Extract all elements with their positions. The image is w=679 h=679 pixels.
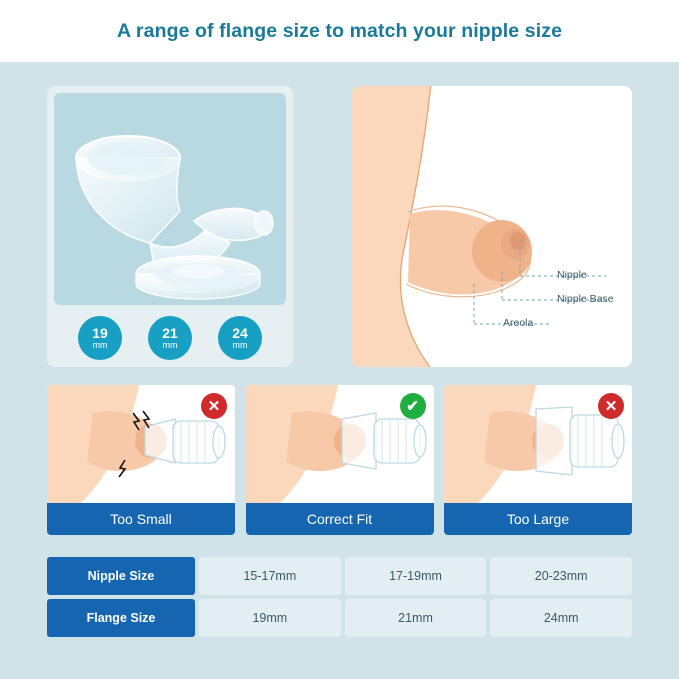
size-table: Nipple Size 15-17mm 17-19mm 20-23mm Flan… — [47, 557, 632, 641]
fit-caption-correct-fit: Correct Fit — [246, 503, 434, 535]
size-badge-21: 21 mm — [148, 316, 192, 360]
status-badge-cross: ✕ — [598, 393, 624, 419]
size-badge-number: 19 — [92, 326, 108, 340]
flange-illustration — [54, 93, 286, 305]
status-badge-check: ✔ — [400, 393, 426, 419]
fit-card-correct-fit: ✔ Correct Fit — [246, 385, 434, 535]
cell-nipple-size-3: 20-23mm — [490, 557, 632, 595]
flange-panel: 19 mm 21 mm 24 mm — [47, 86, 293, 367]
fit-caption-too-small: Too Small — [47, 503, 235, 535]
flange-product-image — [54, 93, 286, 305]
size-badge-list: 19 mm 21 mm 24 mm — [47, 308, 293, 367]
cell-nipple-size-1: 15-17mm — [199, 557, 341, 595]
size-badge-unit: mm — [93, 341, 108, 350]
header-bar: A range of flange size to match your nip… — [0, 0, 679, 62]
row-header-nipple-size: Nipple Size — [47, 557, 195, 595]
row-header-flange-size: Flange Size — [47, 599, 195, 637]
size-badge-19: 19 mm — [78, 316, 122, 360]
size-badge-unit: mm — [163, 341, 178, 350]
fit-card-too-large: ✕ Too Large — [444, 385, 632, 535]
label-nipple-base: Nipple Base — [557, 293, 614, 305]
label-areola: Areola — [503, 317, 533, 329]
fit-card-too-small: ✕ Too Small — [47, 385, 235, 535]
status-badge-cross: ✕ — [201, 393, 227, 419]
size-badge-number: 21 — [162, 326, 178, 340]
table-row-flange-size: Flange Size 19mm 21mm 24mm — [47, 599, 632, 637]
cell-flange-size-2: 21mm — [345, 599, 487, 637]
breast-anatomy-diagram — [352, 86, 632, 367]
cell-flange-size-3: 24mm — [490, 599, 632, 637]
cell-nipple-size-2: 17-19mm — [345, 557, 487, 595]
size-badge-unit: mm — [233, 341, 248, 350]
size-badge-number: 24 — [232, 326, 248, 340]
fit-caption-too-large: Too Large — [444, 503, 632, 535]
fit-comparison-row: ✕ Too Small ✔ Correct Fit — [47, 385, 632, 535]
anatomy-panel: Nipple Nipple Base Areola — [352, 86, 632, 367]
size-badge-24: 24 mm — [218, 316, 262, 360]
table-row-nipple-size: Nipple Size 15-17mm 17-19mm 20-23mm — [47, 557, 632, 595]
label-nipple: Nipple — [557, 269, 587, 281]
page-title: A range of flange size to match your nip… — [117, 20, 562, 43]
top-row: 19 mm 21 mm 24 mm — [47, 86, 632, 367]
cell-flange-size-1: 19mm — [199, 599, 341, 637]
infographic-page: A range of flange size to match your nip… — [0, 0, 679, 679]
